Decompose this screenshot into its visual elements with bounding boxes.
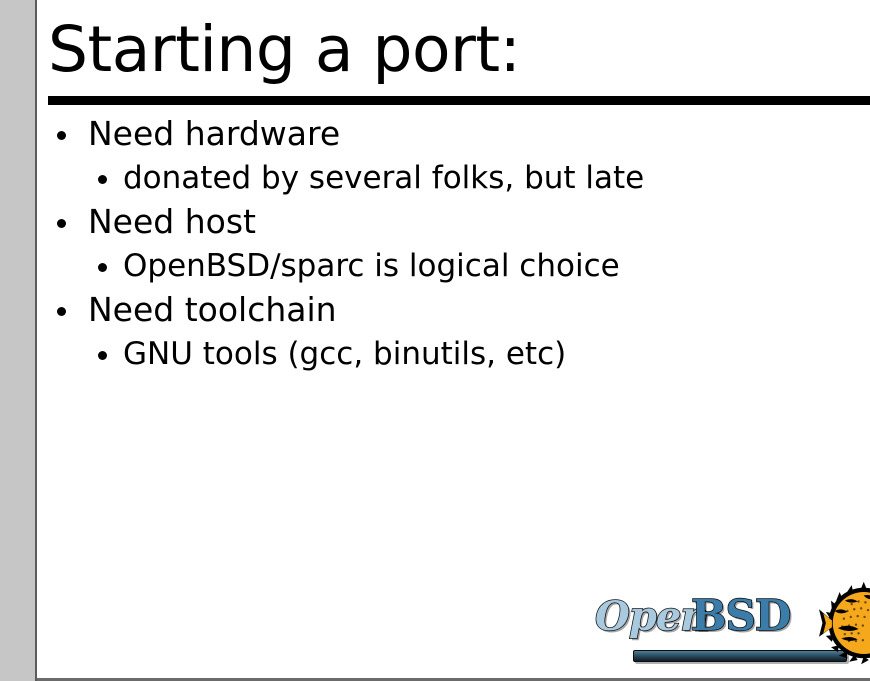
list-item: donated by several folks, but late: [37, 156, 870, 200]
page-title: Starting a port:: [48, 14, 520, 86]
bullet-dot-icon: [98, 175, 107, 184]
list-item-label: donated by several folks, but late: [123, 160, 644, 196]
list-item: Need hardware: [37, 112, 870, 156]
list-item-label: OpenBSD/sparc is logical choice: [123, 248, 620, 284]
left-decoration-band: [0, 0, 35, 681]
list-item-label: Need hardware: [88, 114, 340, 153]
bullet-list: Need hardware donated by several folks, …: [37, 112, 870, 376]
bullet-dot-icon: [57, 219, 66, 228]
list-item: GNU tools (gcc, binutils, etc): [37, 332, 870, 376]
logo-word-bsd: BSD: [691, 592, 790, 640]
bullet-dot-icon: [98, 263, 107, 272]
openbsd-logo: Open BSD: [567, 575, 867, 673]
bullet-dot-icon: [57, 131, 66, 140]
list-item-label: Need host: [88, 202, 256, 241]
list-item-label: Need toolchain: [88, 290, 337, 329]
list-item-label: GNU tools (gcc, binutils, etc): [123, 336, 566, 372]
list-item: OpenBSD/sparc is logical choice: [37, 244, 870, 288]
bullet-dot-icon: [98, 351, 107, 360]
openbsd-wordmark: Open BSD: [595, 593, 811, 663]
title-underline-rule: [48, 96, 870, 105]
logo-underline-bar: [633, 650, 847, 662]
list-item: Need host: [37, 200, 870, 244]
presentation-slide: Starting a port: Need hardware donated b…: [0, 0, 870, 681]
bullet-dot-icon: [57, 307, 66, 316]
list-item: Need toolchain: [37, 288, 870, 332]
puffy-blowfish-icon: [819, 577, 870, 669]
slide-content: Starting a port: Need hardware donated b…: [37, 0, 870, 678]
